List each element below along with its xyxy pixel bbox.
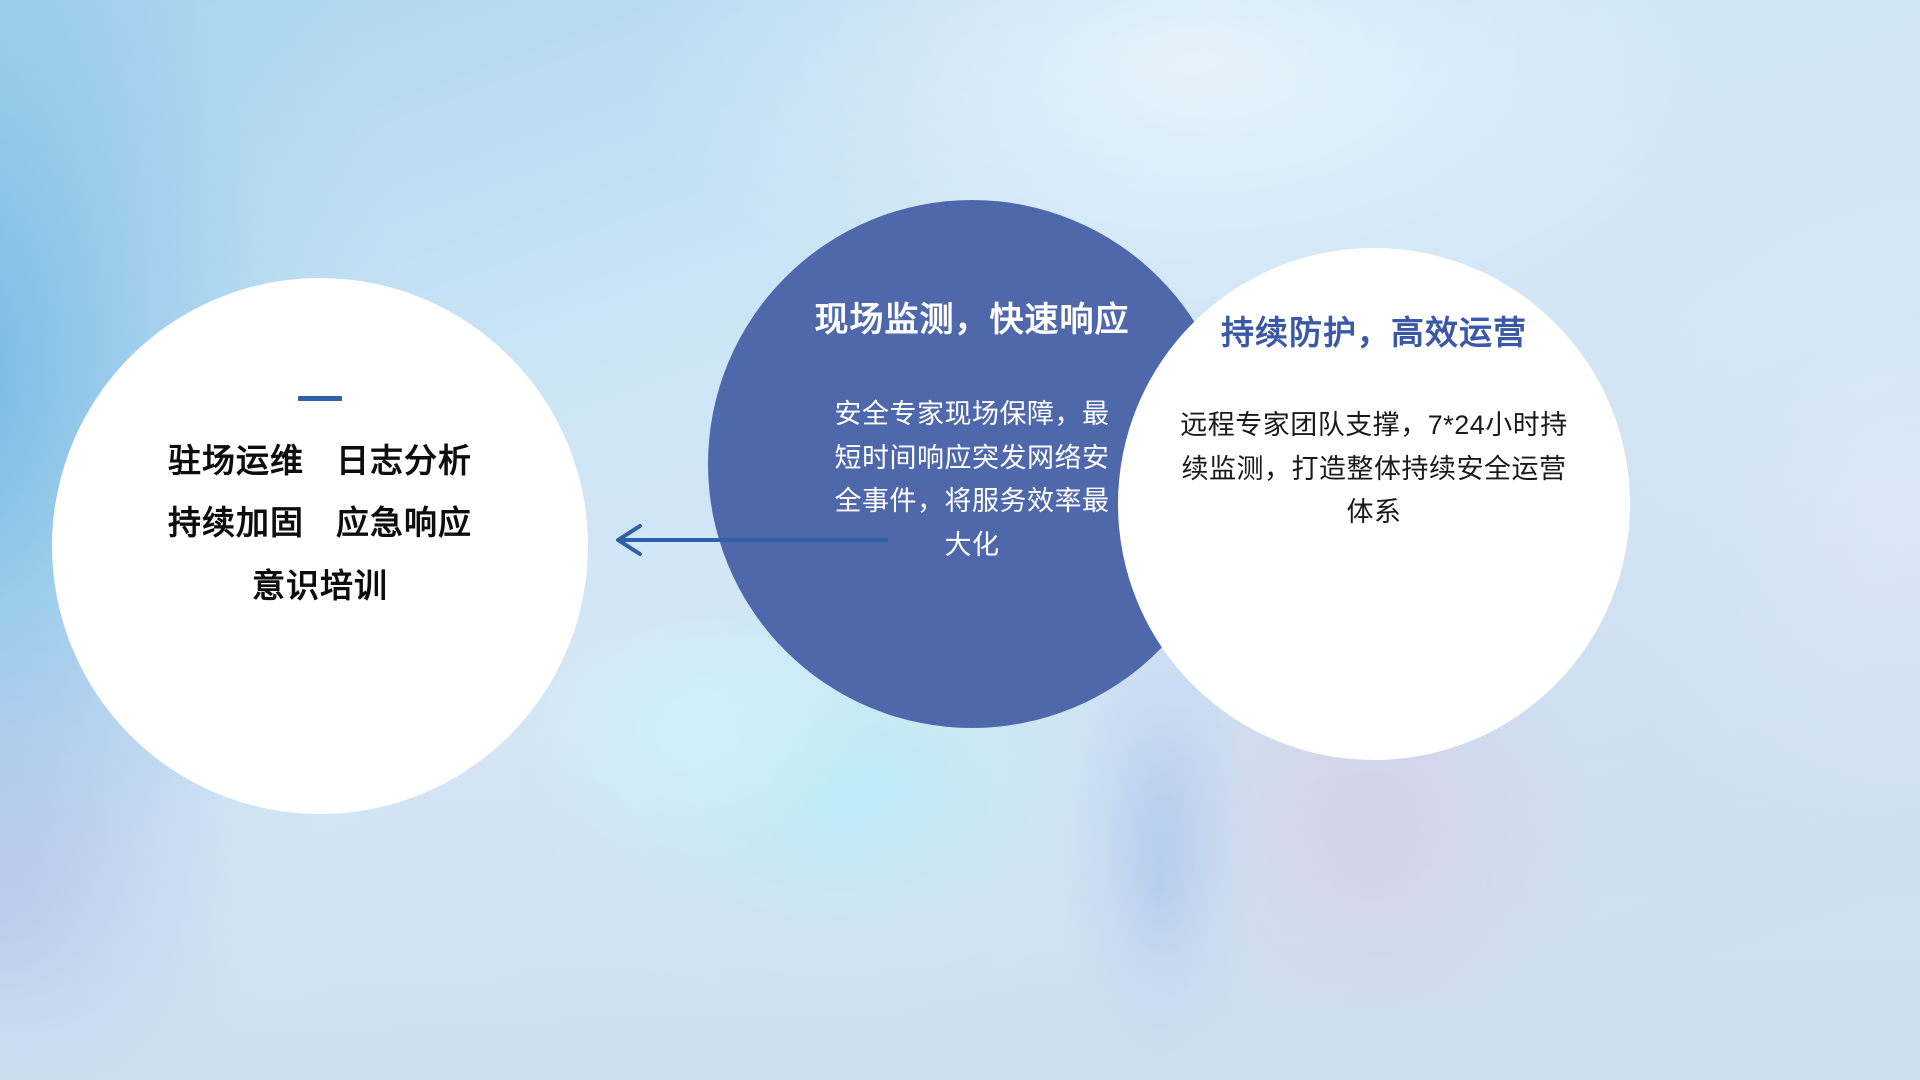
capability-list: 驻场运维 日志分析 持续加固 应急响应 意识培训 (52, 443, 588, 604)
middle-circle-title: 现场监测，快速响应 (815, 292, 1130, 341)
right-circle-body: 远程专家团队支撑，7*24小时持续监测，打造整体持续安全运营体系 (1174, 404, 1574, 535)
capability-row: 持续加固 应急响应 (52, 505, 588, 541)
capability-item: 驻场运维 (168, 443, 304, 479)
capability-item: 持续加固 (168, 505, 304, 541)
capability-item: 应急响应 (336, 505, 472, 541)
slide-canvas: 驻场运维 日志分析 持续加固 应急响应 意识培训 现场监测，快速响应 安全专家现… (0, 0, 1920, 1080)
capability-row: 意识培训 (52, 568, 588, 604)
right-circle-title: 持续防护，高效运营 (1221, 306, 1527, 354)
capability-row: 驻场运维 日志分析 (52, 443, 588, 479)
capability-item: 日志分析 (336, 443, 472, 479)
dash-divider-icon (298, 396, 342, 401)
capability-item: 意识培训 (252, 568, 388, 604)
left-arrow-icon (600, 518, 890, 562)
left-capability-circle: 驻场运维 日志分析 持续加固 应急响应 意识培训 (52, 278, 588, 814)
right-continuous-protection-circle: 持续防护，高效运营 远程专家团队支撑，7*24小时持续监测，打造整体持续安全运营… (1118, 248, 1630, 760)
